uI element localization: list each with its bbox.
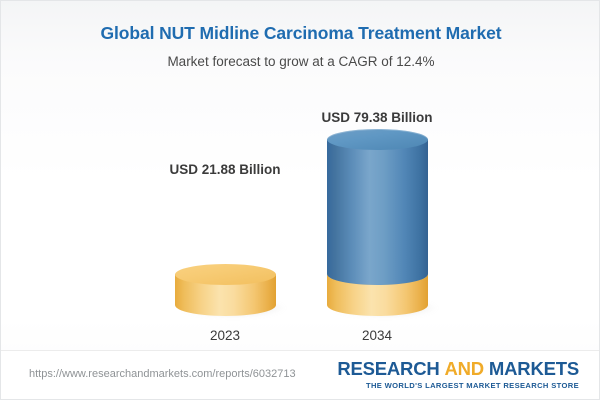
axis-label-2034: 2034 xyxy=(277,328,477,343)
brand-logo[interactable]: RESEARCH AND MARKETS THE WORLD'S LARGEST… xyxy=(337,359,579,390)
brand-logo-word-research: RESEARCH xyxy=(337,358,439,379)
bar-segment-base-2023 xyxy=(175,274,276,316)
brand-logo-wordmark: RESEARCH AND MARKETS xyxy=(337,359,579,379)
brand-logo-tagline: THE WORLD'S LARGEST MARKET RESEARCH STOR… xyxy=(337,381,579,390)
chart-footer: https://www.researchandmarkets.com/repor… xyxy=(1,350,600,399)
bar-segment-growth-2034 xyxy=(327,139,428,285)
bar-value-label-2023: USD 21.88 Billion xyxy=(125,162,325,177)
bar-segment-body xyxy=(327,139,428,285)
bar-segment-top-ellipse xyxy=(175,264,276,285)
bar-value-label-2034: USD 79.38 Billion xyxy=(277,110,477,125)
chart-plot-area: USD 21.88 Billion 2023 USD 79.38 Billion xyxy=(1,89,600,349)
chart-card: Global NUT Midline Carcinoma Treatment M… xyxy=(0,0,600,400)
chart-title: Global NUT Midline Carcinoma Treatment M… xyxy=(1,1,600,44)
bar-segment-top-ellipse xyxy=(327,129,428,150)
brand-logo-word-and: AND xyxy=(444,358,483,379)
report-url[interactable]: https://www.researchandmarkets.com/repor… xyxy=(29,368,296,380)
brand-logo-word-markets: MARKETS xyxy=(489,358,579,379)
chart-header: Global NUT Midline Carcinoma Treatment M… xyxy=(1,1,600,71)
chart-subtitle: Market forecast to grow at a CAGR of 12.… xyxy=(1,44,600,71)
